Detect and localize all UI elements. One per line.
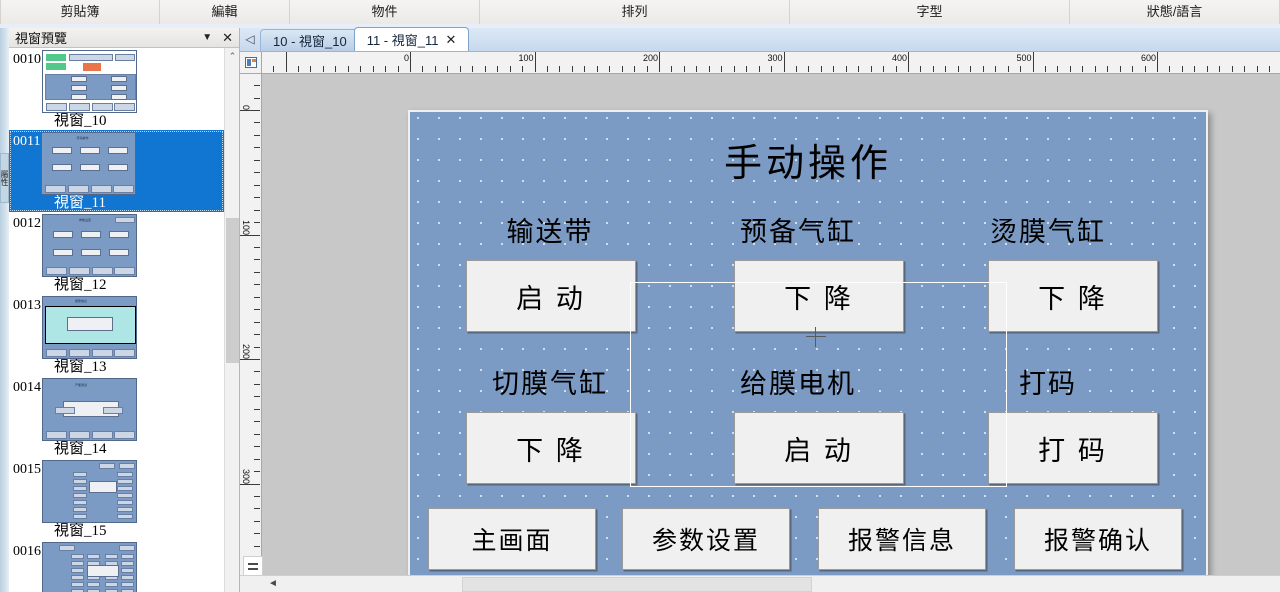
- thumbnail-element: [105, 554, 118, 559]
- thumbnail-element: [121, 568, 134, 573]
- ruler-minor-tick: [254, 98, 260, 99]
- ruler-minor-tick: [1070, 66, 1071, 72]
- ruler-minor-tick: [254, 247, 260, 248]
- thumbnail-element: [105, 582, 118, 587]
- left-edge-strip: 屬性: [0, 28, 9, 592]
- thumbnail-element: [111, 76, 127, 82]
- ruler-minor-tick: [721, 66, 722, 72]
- label-cut-cylinder: 切膜气缸: [430, 362, 670, 401]
- window-preview-id: 0010: [9, 50, 42, 68]
- ruler-minor-tick: [995, 66, 996, 72]
- ruler-minor-tick: [254, 147, 260, 148]
- ruler-major-tick: [908, 52, 909, 72]
- ruler-minor-tick: [709, 66, 710, 72]
- thumbnail-element: [114, 431, 135, 439]
- ribbon-group-label: 排列: [621, 0, 647, 24]
- ruler-minor-tick: [422, 66, 423, 72]
- button-film-motor-start[interactable]: 启 动: [734, 412, 904, 484]
- label-film-motor: 给膜电机: [678, 362, 918, 401]
- label-coding: 打码: [928, 362, 1168, 401]
- ruler-minor-tick: [254, 371, 260, 372]
- ruler-minor-tick: [734, 66, 735, 72]
- ruler-minor-tick: [572, 66, 573, 72]
- ruler-minor-tick: [584, 66, 585, 72]
- thumbnail-element: [108, 164, 128, 171]
- thumbnail-element: [111, 85, 127, 91]
- button-main-screen[interactable]: 主画面: [428, 508, 596, 570]
- ruler-minor-tick: [1057, 66, 1058, 72]
- ruler-minor-tick: [1194, 66, 1195, 72]
- ruler-minor-tick: [1095, 66, 1096, 72]
- collapsed-panel-tab[interactable]: 屬性: [0, 153, 9, 203]
- page-icon: [245, 57, 257, 68]
- thumbnail-element: [46, 103, 67, 111]
- application-window: 剪貼簿 編輯 物件 排列 字型 狀態/語言 屬性 視窗預覽 ▼ ✕ 0010視窗…: [0, 0, 1280, 592]
- ruler-minor-tick: [254, 421, 260, 422]
- ruler-minor-tick: [821, 66, 822, 72]
- ruler-minor-tick: [254, 546, 260, 547]
- collapsed-panel-label: 屬性: [0, 170, 9, 186]
- ruler-minor-tick: [254, 122, 260, 123]
- window-preview-row: 0010: [9, 50, 224, 113]
- ruler-minor-tick: [970, 66, 971, 72]
- thumbnail-element: [117, 493, 133, 498]
- thumbnail-element: [71, 554, 84, 559]
- document-tab-bar: ◁ 10 - 視窗_10 11 - 視窗_11 ✕: [240, 28, 1280, 52]
- ruler-minor-tick: [1120, 66, 1121, 72]
- ruler-tick-label: 0: [404, 53, 410, 63]
- button-conveyor-start[interactable]: 启 动: [466, 260, 636, 332]
- thumbnail-element: [109, 231, 129, 238]
- editor-workspace: 0100200300400500600 0100200300 手动操作 输送带 …: [240, 52, 1280, 592]
- close-icon[interactable]: ✕: [445, 33, 456, 46]
- scrollbar-thumb[interactable]: [462, 577, 812, 592]
- window-preview-item-0011[interactable]: 0011手动操作視窗_11: [9, 130, 224, 212]
- window-preview-id: 0014: [9, 378, 42, 396]
- thumbnail-element: [92, 103, 113, 111]
- thumbnail-element: 参数设置: [79, 218, 119, 223]
- window-preview-item-0013[interactable]: 0013报警信息視窗_13: [9, 294, 224, 376]
- button-prep-cylinder-down[interactable]: 下 降: [734, 260, 904, 332]
- window-preview-item-0015[interactable]: 0015視窗_15: [9, 458, 224, 540]
- thumbnail-element: [71, 582, 84, 587]
- window-thumbnail[interactable]: 产能测试: [42, 378, 137, 441]
- window-preview-row: 0013报警信息: [9, 296, 224, 359]
- thumbnail-element: [109, 249, 129, 256]
- thumbnail-element: [99, 463, 115, 469]
- ruler-minor-tick: [1269, 66, 1270, 72]
- ruler-minor-tick: [808, 66, 809, 72]
- button-seal-cylinder-down[interactable]: 下 降: [988, 260, 1158, 332]
- vertical-ruler[interactable]: 0100200300: [240, 74, 262, 592]
- thumbnail-element: [69, 267, 90, 275]
- ruler-minor-tick: [310, 66, 311, 72]
- chevron-up-icon[interactable]: ⌃: [225, 48, 240, 64]
- thumbnail-element: [69, 54, 113, 61]
- ruler-minor-tick: [254, 309, 260, 310]
- ruler-minor-tick: [273, 66, 274, 72]
- thumbnail-element: [81, 249, 101, 256]
- ruler-minor-tick: [696, 66, 697, 72]
- window-preview-id: 0013: [9, 296, 42, 314]
- window-preview-item-0014[interactable]: 0014产能测试視窗_14: [9, 376, 224, 458]
- ruler-minor-tick: [858, 66, 859, 72]
- window-preview-label: 視窗_11: [9, 195, 224, 212]
- ruler-minor-tick: [796, 66, 797, 72]
- thumbnail-element: [69, 349, 90, 357]
- chevron-down-icon[interactable]: ▼: [194, 32, 220, 43]
- thumbnail-element: [71, 94, 87, 100]
- thumbnail-element: [46, 349, 67, 357]
- close-icon[interactable]: ✕: [220, 30, 240, 46]
- thumbnail-element: [92, 267, 113, 275]
- ruler-minor-tick: [671, 66, 672, 72]
- ruler-major-tick: [240, 235, 260, 236]
- ribbon-toolbar: 剪貼簿 編輯 物件 排列 字型 狀態/語言: [0, 0, 1280, 25]
- ruler-minor-tick: [335, 66, 336, 72]
- horizontal-scrollbar[interactable]: ◄: [240, 575, 1280, 592]
- ruler-minor-tick: [373, 66, 374, 72]
- ruler-minor-tick: [254, 284, 260, 285]
- ribbon-group-label: 剪貼簿: [60, 0, 99, 24]
- ribbon-group-label: 字型: [916, 0, 942, 24]
- ruler-tick-label: 600: [1141, 53, 1157, 63]
- thumbnail-element: [46, 63, 66, 70]
- ribbon-group-label: 編輯: [211, 0, 237, 24]
- thumbnail-element: [119, 545, 135, 551]
- thumbnail-element: [53, 231, 73, 238]
- ruler-tick-label: 500: [1016, 53, 1032, 63]
- sidebar-scrollbar[interactable]: ⌃: [224, 48, 240, 592]
- ruler-minor-tick: [254, 85, 260, 86]
- ruler-major-tick: [535, 52, 536, 72]
- thumbnail-element: [91, 185, 112, 193]
- ruler-minor-tick: [647, 66, 648, 72]
- ruler-minor-tick: [920, 66, 921, 72]
- thumbnail-element: [113, 185, 134, 193]
- ruler-minor-tick: [510, 66, 511, 72]
- thumbnail-element: [71, 575, 84, 580]
- ruler-minor-tick: [746, 66, 747, 72]
- scrollbar-thumb[interactable]: [226, 218, 239, 363]
- ruler-major-tick: [240, 484, 260, 485]
- window-thumbnail[interactable]: 报警信息: [42, 296, 137, 359]
- ruler-tick-label: 300: [241, 468, 251, 483]
- ruler-minor-tick: [254, 521, 260, 522]
- window-preview-row: 0011手动操作: [9, 132, 224, 195]
- thumbnail-element: [117, 500, 133, 505]
- button-cut-cylinder-down[interactable]: 下 降: [466, 412, 636, 484]
- thumbnail-element: [80, 147, 100, 154]
- thumbnail-element: [117, 514, 133, 519]
- screen-title: 手动操作: [410, 132, 1206, 187]
- ruler-minor-tick: [833, 66, 834, 72]
- ruler-minor-tick: [945, 66, 946, 72]
- ruler-minor-tick: [1257, 66, 1258, 72]
- ruler-minor-tick: [254, 172, 260, 173]
- ruler-minor-tick: [684, 66, 685, 72]
- ruler-minor-tick: [559, 66, 560, 72]
- ribbon-group-object[interactable]: 物件: [290, 0, 480, 24]
- thumbnail-element: [46, 431, 67, 439]
- ruler-minor-tick: [883, 66, 884, 72]
- thumbnail-element: [71, 76, 87, 82]
- ribbon-group-arrange[interactable]: 排列: [480, 0, 790, 24]
- window-thumbnail[interactable]: [42, 50, 137, 113]
- resize-grip-icon[interactable]: [243, 556, 263, 576]
- ruler-minor-tick: [771, 66, 772, 72]
- sidebar-header: 視窗預覽 ▼ ✕: [9, 28, 240, 48]
- window-preview-row: 0012参数设置: [9, 214, 224, 277]
- ruler-tick-label: 100: [241, 219, 251, 234]
- ribbon-group-clipboard[interactable]: 剪貼簿: [0, 0, 160, 24]
- ribbon-group-state-language[interactable]: 狀態/語言: [1070, 0, 1280, 24]
- button-coding[interactable]: 打 码: [988, 412, 1158, 484]
- thumbnail-element: [121, 561, 134, 566]
- thumbnail-element: [71, 85, 87, 91]
- thumbnail-element: [69, 103, 90, 111]
- ruler-minor-tick: [634, 66, 635, 72]
- thumbnail-element: [68, 185, 89, 193]
- alignment-guide-horizontal-bottom: [630, 486, 1007, 487]
- ruler-minor-tick: [298, 66, 299, 72]
- ruler-minor-tick: [896, 66, 897, 72]
- ruler-minor-tick: [447, 66, 448, 72]
- ruler-minor-tick: [1045, 66, 1046, 72]
- thumbnail-element: [89, 481, 117, 493]
- ruler-minor-tick: [497, 66, 498, 72]
- thumbnail-element: [83, 63, 101, 71]
- ruler-minor-tick: [254, 409, 260, 410]
- scroll-left-icon[interactable]: ◄: [268, 578, 278, 589]
- ruler-minor-tick: [254, 334, 260, 335]
- thumbnail-element: [121, 554, 134, 559]
- thumbnail-element: [103, 407, 123, 414]
- window-preview-row: 0016: [9, 542, 224, 592]
- thumbnail-element: [119, 463, 135, 469]
- window-preview-row: 0015: [9, 460, 224, 523]
- window-preview-id: 0016: [9, 542, 42, 560]
- ruler-minor-tick: [254, 508, 260, 509]
- thumbnail-element: [114, 349, 135, 357]
- thumbnail-element: [117, 472, 133, 477]
- window-preview-item-0012[interactable]: 0012参数设置視窗_12: [9, 212, 224, 294]
- ruler-major-tick: [784, 52, 785, 72]
- ruler-minor-tick: [254, 222, 260, 223]
- button-alarm-info[interactable]: 报警信息: [818, 508, 986, 570]
- tab-window-10[interactable]: 10 - 視窗_10: [260, 29, 360, 51]
- ruler-minor-tick: [609, 66, 610, 72]
- ruler-major-tick: [240, 359, 260, 360]
- thumbnail-element: [73, 507, 87, 512]
- thumbnail-element: [87, 554, 100, 559]
- ruler-minor-tick: [254, 496, 260, 497]
- ribbon-group-label: 狀態/語言: [1147, 0, 1203, 24]
- window-preview-label: 視窗_10: [9, 113, 224, 130]
- ruler-minor-tick: [254, 185, 260, 186]
- thumbnail-element: [117, 479, 133, 484]
- window-thumbnail[interactable]: [42, 460, 137, 523]
- ruler-minor-tick: [254, 197, 260, 198]
- ruler-major-tick: [286, 52, 287, 72]
- thumbnail-element: [115, 217, 135, 223]
- ruler-tick-label: 200: [643, 53, 659, 63]
- ruler-minor-tick: [254, 459, 260, 460]
- ruler-major-tick: [410, 52, 411, 72]
- thumbnail-element: [52, 164, 72, 171]
- thumbnail-element: [46, 54, 66, 61]
- thumbnail-element: 报警信息: [75, 299, 115, 304]
- thumbnail-element: [114, 103, 135, 111]
- thumbnail-element: [59, 545, 75, 551]
- thumbnail-element: [111, 94, 127, 100]
- thumbnail-element: [121, 575, 134, 580]
- ribbon-group-label: 物件: [371, 0, 397, 24]
- ruler-major-tick: [659, 52, 660, 72]
- ruler-minor-tick: [871, 66, 872, 72]
- window-thumbnail[interactable]: [42, 542, 137, 592]
- ruler-minor-tick: [1008, 66, 1009, 72]
- ribbon-group-font[interactable]: 字型: [790, 0, 1070, 24]
- thumbnail-element: [46, 267, 67, 275]
- horizontal-ruler[interactable]: 0100200300400500600: [262, 52, 1280, 74]
- thumbnail-element: [73, 514, 87, 519]
- ruler-minor-tick: [622, 66, 623, 72]
- window-preview-id: 0012: [9, 214, 42, 232]
- thumbnail-element: [87, 582, 100, 587]
- ruler-minor-tick: [254, 396, 260, 397]
- thumbnail-element: [73, 500, 87, 505]
- ruler-tick-label: 100: [518, 53, 534, 63]
- ruler-minor-tick: [1232, 66, 1233, 72]
- thumbnail-element: [67, 317, 113, 331]
- thumbnail-element: [55, 407, 75, 414]
- thumbnail-element: [108, 147, 128, 154]
- thumbnail-element: [69, 431, 90, 439]
- ruler-minor-tick: [759, 66, 760, 72]
- window-preview-row: 0014产能测试: [9, 378, 224, 441]
- ruler-minor-tick: [254, 347, 260, 348]
- ruler-minor-tick: [254, 210, 260, 211]
- button-alarm-ack[interactable]: 报警确认: [1014, 508, 1182, 570]
- thumbnail-element: 产能测试: [75, 383, 115, 388]
- ruler-minor-tick: [360, 66, 361, 72]
- ruler-minor-tick: [398, 66, 399, 72]
- ruler-minor-tick: [254, 533, 260, 534]
- ruler-minor-tick: [1082, 66, 1083, 72]
- thumbnail-element: [73, 479, 87, 484]
- button-parameter-settings[interactable]: 参数设置: [622, 508, 790, 570]
- thumbnail-element: [117, 486, 133, 491]
- thumbnail-element: [73, 472, 87, 477]
- thumbnail-element: [117, 507, 133, 512]
- window-preview-label: 視窗_15: [9, 523, 224, 540]
- ruler-minor-tick: [1244, 66, 1245, 72]
- thumbnail-element: [53, 249, 73, 256]
- window-preview-label: 視窗_14: [9, 441, 224, 458]
- ruler-minor-tick: [1132, 66, 1133, 72]
- ruler-tick-label: 400: [892, 53, 908, 63]
- ruler-tick-label: 0: [241, 105, 251, 110]
- thumbnail-element: [81, 231, 101, 238]
- ruler-minor-tick: [385, 66, 386, 72]
- window-preview-label: 視窗_13: [9, 359, 224, 376]
- label-seal-cylinder: 烫膜气缸: [928, 210, 1168, 249]
- thumbnail-element: [52, 147, 72, 154]
- ruler-minor-tick: [254, 272, 260, 273]
- ruler-minor-tick: [547, 66, 548, 72]
- thumbnail-element: [92, 349, 113, 357]
- ruler-minor-tick: [983, 66, 984, 72]
- ribbon-group-edit[interactable]: 編輯: [160, 0, 290, 24]
- thumbnail-element: [71, 568, 84, 573]
- canvas-scroll-area[interactable]: 手动操作 输送带 预备气缸 烫膜气缸 启 动 下 降 下 降 切膜气缸 给膜电机…: [262, 74, 1280, 592]
- window-preview-label: 視窗_12: [9, 277, 224, 294]
- hmi-screen-canvas[interactable]: 手动操作 输送带 预备气缸 烫膜气缸 启 动 下 降 下 降 切膜气缸 给膜电机…: [408, 110, 1208, 590]
- thumbnail-element: [73, 486, 87, 491]
- label-prep-cylinder: 预备气缸: [678, 210, 918, 249]
- window-thumbnail[interactable]: 手动操作: [41, 132, 136, 195]
- ruler-minor-tick: [1219, 66, 1220, 72]
- thumbnail-element: [45, 185, 66, 193]
- window-preview-item-0016[interactable]: 0016視窗_16: [9, 540, 224, 592]
- thumbnail-element: [92, 431, 113, 439]
- ruler-minor-tick: [254, 259, 260, 260]
- ruler-minor-tick: [1207, 66, 1208, 72]
- ruler-major-tick: [240, 110, 260, 111]
- ruler-minor-tick: [1107, 66, 1108, 72]
- thumbnail-element: [115, 54, 135, 61]
- ruler-minor-tick: [348, 66, 349, 72]
- thumbnail-element: [121, 582, 134, 587]
- ruler-minor-tick: [846, 66, 847, 72]
- ruler-minor-tick: [323, 66, 324, 72]
- thumbnail-element: [80, 164, 100, 171]
- window-preview-id: 0011: [9, 132, 41, 150]
- thumbnail-element: 手动操作: [76, 136, 116, 141]
- ruler-minor-tick: [1169, 66, 1170, 72]
- ruler-minor-tick: [933, 66, 934, 72]
- ruler-minor-tick: [472, 66, 473, 72]
- tab-label: 11 - 視窗_11: [367, 30, 439, 49]
- tab-label: 10 - 視窗_10: [273, 31, 347, 50]
- window-thumbnail[interactable]: 参数设置: [42, 214, 137, 277]
- ruler-minor-tick: [254, 322, 260, 323]
- ruler-minor-tick: [1145, 66, 1146, 72]
- ruler-minor-tick: [254, 384, 260, 385]
- ruler-minor-tick: [1020, 66, 1021, 72]
- window-preview-id: 0015: [9, 460, 42, 478]
- ruler-tick-label: 300: [767, 53, 783, 63]
- window-preview-list[interactable]: 0010視窗_100011手动操作視窗_110012参数设置視窗_120013报…: [9, 48, 224, 592]
- window-preview-sidebar: 視窗預覽 ▼ ✕ 0010視窗_100011手动操作視窗_110012参数设置視…: [9, 28, 240, 592]
- window-preview-item-0010[interactable]: 0010視窗_10: [9, 48, 224, 130]
- ruler-minor-tick: [254, 297, 260, 298]
- thumbnail-element: [87, 565, 119, 577]
- ruler-major-tick: [1157, 52, 1158, 72]
- ruler-minor-tick: [958, 66, 959, 72]
- ruler-minor-tick: [254, 471, 260, 472]
- ruler-minor-tick: [597, 66, 598, 72]
- ruler-minor-tick: [485, 66, 486, 72]
- chevron-left-icon[interactable]: ◁: [240, 27, 260, 51]
- tab-window-11[interactable]: 11 - 視窗_11 ✕: [354, 27, 470, 51]
- ruler-corner-button[interactable]: [240, 52, 262, 74]
- ruler-minor-tick: [254, 434, 260, 435]
- ruler-tick-label: 200: [241, 344, 251, 359]
- ruler-major-tick: [1033, 52, 1034, 72]
- label-conveyor: 输送带: [430, 210, 670, 249]
